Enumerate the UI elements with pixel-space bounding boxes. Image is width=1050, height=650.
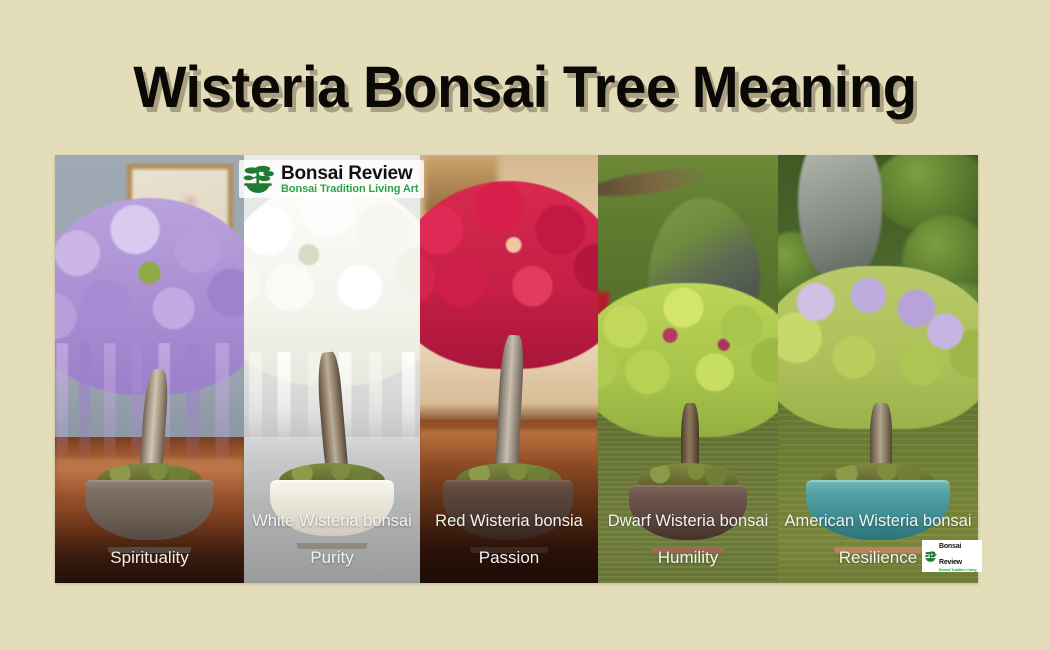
brand-tagline: Bonsai Tradition Living Art [939, 569, 980, 576]
brand-watermark-main[interactable]: Bonsai Review Bonsai Tradition Living Ar… [239, 160, 424, 198]
panel-top-label: Red Wisteria bonsia [420, 512, 598, 531]
page-title: Wisteria Bonsai Tree Meaning [16, 58, 1035, 119]
collage-panel-white-wisteria[interactable]: White Wisteria bonsai Purity [244, 155, 420, 583]
panel-meaning-label: Spirituality [55, 548, 244, 568]
panel-top-label: American Wisteria bonsai [778, 512, 978, 531]
collage-panel-dwarf-wisteria[interactable]: Dwarf Wisteria bonsai Humility [598, 155, 778, 583]
brand-text: Bonsai Review Bonsai Tradition Living Ar… [939, 536, 980, 576]
bonsai-pot [85, 480, 214, 540]
panel-meaning-label: Humility [598, 548, 778, 568]
brand-text: Bonsai Review Bonsai Tradition Living Ar… [281, 164, 418, 195]
brand-name: Bonsai Review [939, 543, 962, 566]
bonsai-tree-icon [924, 550, 937, 563]
collage-panel-red-wisteria[interactable]: Red Wisteria bonsia Passion [420, 155, 598, 583]
brand-watermark-corner[interactable]: Bonsai Review Bonsai Tradition Living Ar… [922, 540, 982, 572]
panel-meaning-label: Purity [244, 548, 420, 568]
collage-panel-american-wisteria[interactable]: American Wisteria bonsai Resilience [778, 155, 978, 583]
bonsai-tree-graphic [55, 155, 244, 583]
bonsai-pot [806, 480, 950, 540]
bonsai-image-collage: Spirituality White Wisteria bonsai Purit… [55, 155, 978, 583]
collage-panel-purple-wisteria[interactable]: Spirituality [55, 155, 244, 583]
bonsai-pot [443, 480, 573, 540]
bonsai-tree-icon [241, 162, 275, 196]
brand-tagline: Bonsai Tradition Living Art [281, 184, 418, 195]
panel-top-label: Dwarf Wisteria bonsai [598, 512, 778, 531]
wisteria-bonsai-infographic: { "page": { "title": "Wisteria Bonsai Tr… [0, 0, 1050, 650]
panel-meaning-label: Passion [420, 548, 598, 568]
panel-top-label: White Wisteria bonsai [244, 512, 420, 531]
brand-name: Bonsai Review [281, 163, 413, 184]
panel-photo-purple-wisteria [55, 155, 244, 583]
